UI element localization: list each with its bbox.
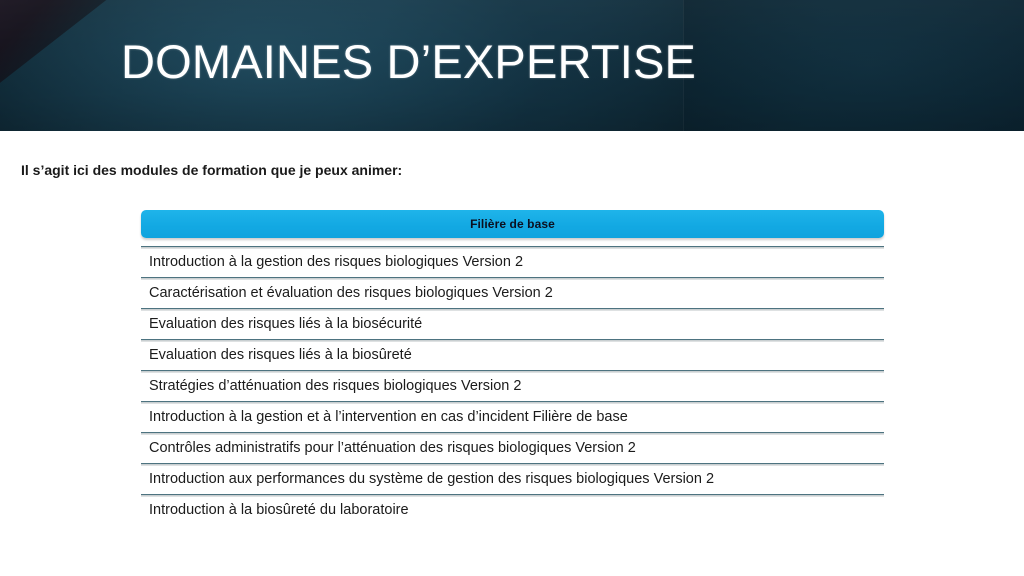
table-row: Caractérisation et évaluation des risque… <box>141 277 884 308</box>
table-row: Introduction aux performances du système… <box>141 463 884 494</box>
table-cell-module-name: Introduction à la gestion des risques bi… <box>149 253 523 271</box>
table-cell-module-name: Evaluation des risques liés à la biosécu… <box>149 315 422 333</box>
table-cell-module-name: Evaluation des risques liés à la biosûre… <box>149 346 412 364</box>
table-row: Introduction à la biosûreté du laboratoi… <box>141 494 884 525</box>
table-cell-module-name: Contrôles administratifs pour l’atténuat… <box>149 439 636 457</box>
table-cell-module-name: Caractérisation et évaluation des risque… <box>149 284 553 302</box>
table-cell-module-name: Stratégies d’atténuation des risques bio… <box>149 377 521 395</box>
table-header-bar: Filière de base <box>141 210 884 238</box>
table-row: Introduction à la gestion des risques bi… <box>141 246 884 277</box>
header-panel-right <box>683 0 1024 131</box>
table-row: Contrôles administratifs pour l’atténuat… <box>141 432 884 463</box>
page-title: DOMAINES D’EXPERTISE <box>121 32 696 92</box>
table-row: Stratégies d’atténuation des risques bio… <box>141 370 884 401</box>
table-cell-module-name: Introduction aux performances du système… <box>149 470 714 488</box>
table-header-label: Filière de base <box>470 217 555 231</box>
table-row: Introduction à la gestion et à l’interve… <box>141 401 884 432</box>
training-modules-table: Filière de base Introduction à la gestio… <box>141 210 884 525</box>
table-cell-module-name: Introduction à la gestion et à l’interve… <box>149 408 628 426</box>
table-row: Evaluation des risques liés à la biosûre… <box>141 339 884 370</box>
table-body: Introduction à la gestion des risques bi… <box>141 246 884 525</box>
intro-paragraph: Il s’agit ici des modules de formation q… <box>21 160 402 180</box>
table-cell-module-name: Introduction à la biosûreté du laboratoi… <box>149 501 409 519</box>
slide-header-banner: DOMAINES D’EXPERTISE <box>0 0 1024 131</box>
table-row: Evaluation des risques liés à la biosécu… <box>141 308 884 339</box>
